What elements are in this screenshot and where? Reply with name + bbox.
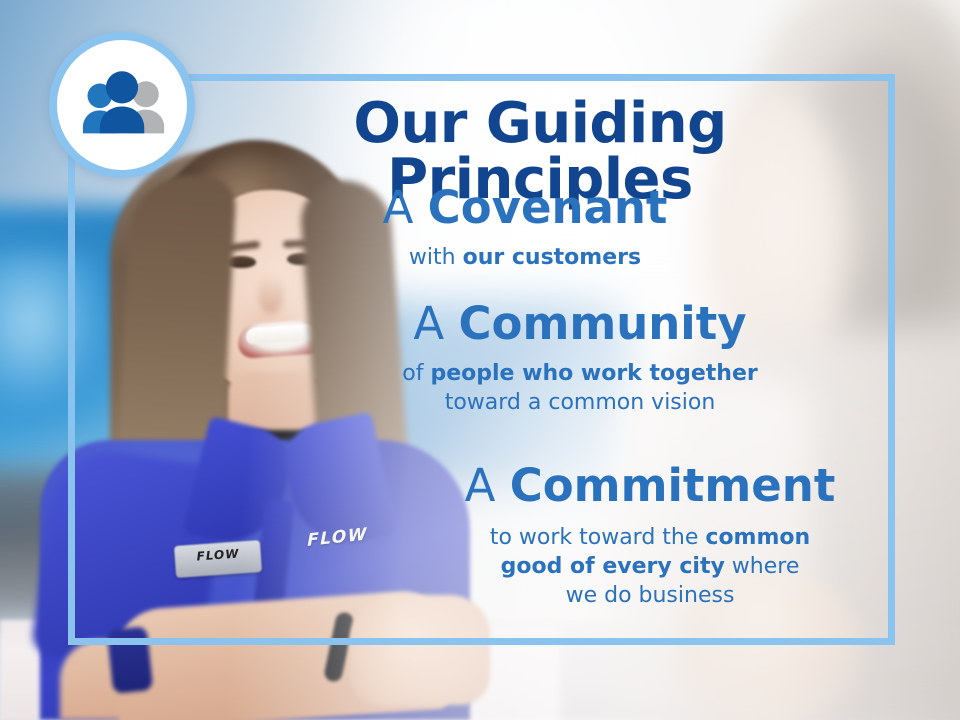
principle-community-line-1: of people who work together bbox=[375, 359, 785, 388]
principle-covenant-heading: A Covenant bbox=[330, 184, 720, 233]
principle-commitment-line-2: good of every city where bbox=[430, 552, 870, 581]
principle-community-lead: A bbox=[413, 297, 458, 350]
text-run: of bbox=[402, 361, 430, 386]
principle-covenant-line-1: with our customers bbox=[330, 243, 720, 272]
principle-commitment-line-3: we do business bbox=[430, 581, 870, 610]
text-content: Our Guiding Principles A Covenant with o… bbox=[0, 0, 960, 720]
text-run: where bbox=[725, 554, 800, 579]
text-run: toward a common vision bbox=[445, 390, 716, 415]
text-run-bold: good of every city bbox=[501, 554, 725, 579]
text-run-bold: common bbox=[705, 525, 810, 550]
principle-covenant-subtext: with our customers bbox=[330, 243, 720, 272]
text-run: we do business bbox=[566, 583, 735, 608]
principle-commitment-line-1: to work toward the common bbox=[430, 523, 870, 552]
principle-community-keyword: Community bbox=[459, 297, 747, 350]
principle-covenant-lead: A bbox=[383, 181, 428, 234]
guiding-principles-graphic: FLOW FLOW Our Guiding Principles A Coven… bbox=[0, 0, 960, 720]
principle-commitment-heading: A Commitment bbox=[430, 462, 870, 511]
principle-community-line-2: toward a common vision bbox=[375, 388, 785, 417]
text-run: to work toward the bbox=[490, 525, 706, 550]
principle-commitment-keyword: Commitment bbox=[510, 459, 836, 512]
text-run-bold: people who work together bbox=[430, 361, 757, 386]
text-run: with bbox=[409, 245, 463, 270]
principle-community-subtext: of people who work together toward a com… bbox=[375, 359, 785, 417]
principle-community-heading: A Community bbox=[375, 300, 785, 349]
text-run-bold: our customers bbox=[463, 245, 642, 270]
principle-covenant-keyword: Covenant bbox=[428, 181, 668, 234]
principle-commitment: A Commitment to work toward the common g… bbox=[430, 462, 870, 610]
principle-covenant: A Covenant with our customers bbox=[330, 184, 720, 272]
principle-commitment-lead: A bbox=[465, 459, 510, 512]
principle-commitment-subtext: to work toward the common good of every … bbox=[430, 523, 870, 610]
principle-community: A Community of people who work together … bbox=[375, 300, 785, 417]
